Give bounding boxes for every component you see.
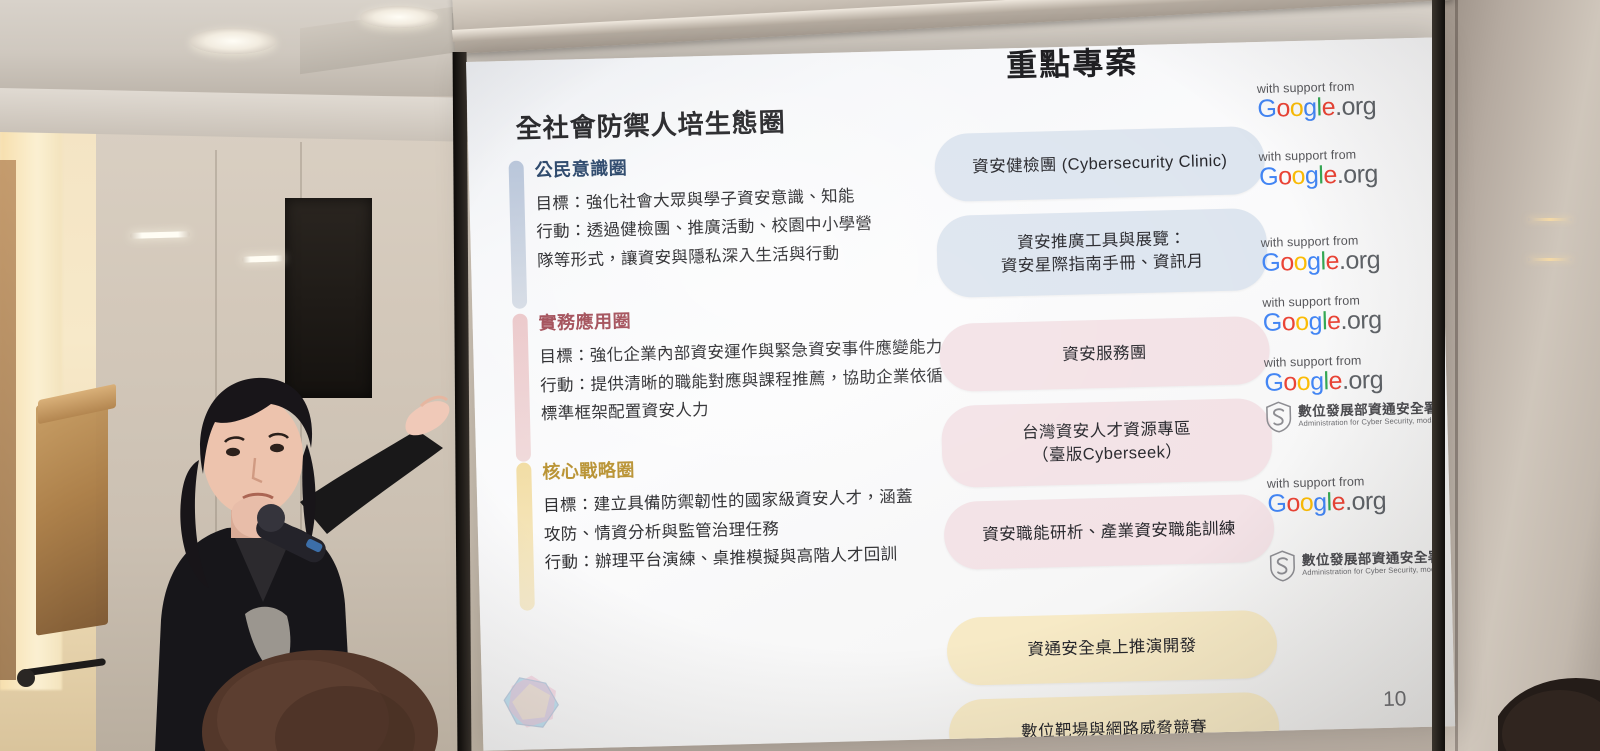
moda-logo-block: 數位發展部資通安全署 Administration for Cyber Secu… <box>1269 546 1450 582</box>
project-pill-label: 資安職能研析、產業資安職能訓練 <box>982 517 1236 546</box>
project-pill-label: （臺版Cyberseek） <box>1032 441 1183 468</box>
sponsor-logo: with support from Google.org <box>1262 291 1443 336</box>
project-pill[interactable]: 台灣資安人才資源專區 （臺版Cyberseek） <box>941 398 1273 488</box>
wall-accent-light <box>1528 258 1572 261</box>
screenshot-stage: 重點專案 全社會防禦人培生態圈 公民意識圈 目標：強化社會大眾與學子資安意識、知… <box>0 0 1600 751</box>
door-frame <box>0 160 16 680</box>
section-core: 核心戰略圈 目標：建立具備防禦韌性的國家級資安人才，涵蓋 攻防、情資分析與監管治… <box>510 448 973 579</box>
sponsor-logo-column: with support from Google.org with suppor… <box>1257 77 1450 601</box>
google-org-wordmark: Google.org <box>1263 306 1444 336</box>
crystal-gem-icon <box>499 669 565 735</box>
project-pill[interactable]: 資通安全桌上推演開發 <box>946 610 1278 686</box>
section-civic: 公民意識圈 目標：強化社會大眾與學子資安意識、知能 行動：透過健檢團、推廣活動、… <box>502 145 965 276</box>
slide-title: 全社會防禦人培生態圈 <box>515 102 786 146</box>
moda-shield-s-icon <box>1265 401 1293 433</box>
sponsor-logo-combo: with support from Google.org 數位發展部資通安全署 … <box>1264 351 1446 433</box>
audience-head-left <box>195 612 445 751</box>
ecosystem-sections: 公民意識圈 目標：強化社會大眾與學子資安意識、知能 行動：透過健檢團、推廣活動、… <box>502 145 973 598</box>
project-pill[interactable]: 資安推廣工具與展覽： 資安星際指南手冊、資訊月 <box>936 208 1268 298</box>
slide-page-number: 10 <box>1383 687 1407 712</box>
section-heading: 核心戰略圈 <box>542 448 971 485</box>
project-pill-label: 資通安全桌上推演開發 <box>1027 634 1197 661</box>
audience-head-right <box>1498 638 1600 751</box>
google-org-wordmark: Google.org <box>1261 246 1442 276</box>
sponsor-logo: with support from Google.org <box>1267 472 1448 517</box>
moda-logo: 數位發展部資通安全署 Administration for Cyber Secu… <box>1269 546 1450 582</box>
google-org-wordmark: Google.org <box>1264 366 1445 396</box>
moda-logo: 數位發展部資通安全署 Administration for Cyber Secu… <box>1265 397 1446 433</box>
accent-bar-civic <box>509 161 528 309</box>
section-heading: 實務應用圈 <box>538 299 967 336</box>
google-org-wordmark: Google.org <box>1267 487 1448 517</box>
project-pill-column: 資安健檢團 (Cybersecurity Clinic) 資安推廣工具與展覽： … <box>934 126 1280 751</box>
sponsor-logo: with support from Google.org <box>1261 231 1442 276</box>
wall-accent-light <box>1528 218 1572 221</box>
project-pill-label: 資安星際指南手冊、資訊月 <box>1001 250 1204 278</box>
accent-bar-practice <box>512 314 531 462</box>
section-practice: 實務應用圈 目標：強化企業內部資安運作與緊急資安事件應變能力 行動：提供清晰的職… <box>506 299 969 430</box>
project-pill[interactable]: 資安服務團 <box>939 316 1271 392</box>
section-heading: 公民意識圈 <box>534 145 963 182</box>
ceiling-downlight-icon <box>190 28 276 54</box>
microphone-stand <box>10 640 120 700</box>
project-pill[interactable]: 資安健檢團 (Cybersecurity Clinic) <box>934 126 1266 202</box>
project-pill-label: 資安健檢團 (Cybersecurity Clinic) <box>972 149 1228 178</box>
wall-right-seam <box>1455 0 1458 751</box>
ceiling-downlight-icon <box>360 6 438 28</box>
google-org-wordmark: Google.org <box>1259 160 1440 190</box>
screen-right-edge <box>1432 0 1445 751</box>
project-pill-label: 資安服務團 <box>1062 341 1147 366</box>
projected-slide: 重點專案 全社會防禦人培生態圈 公民意識圈 目標：強化社會大眾與學子資安意識、知… <box>466 37 1455 750</box>
project-pill[interactable]: 資安職能研析、產業資安職能訓練 <box>943 494 1275 570</box>
accent-bar-core <box>516 463 535 611</box>
google-org-wordmark: Google.org <box>1257 92 1438 122</box>
sponsor-logo: with support from Google.org <box>1258 145 1439 190</box>
sponsor-logo: with support from Google.org <box>1257 77 1438 122</box>
moda-shield-s-icon <box>1269 550 1297 582</box>
